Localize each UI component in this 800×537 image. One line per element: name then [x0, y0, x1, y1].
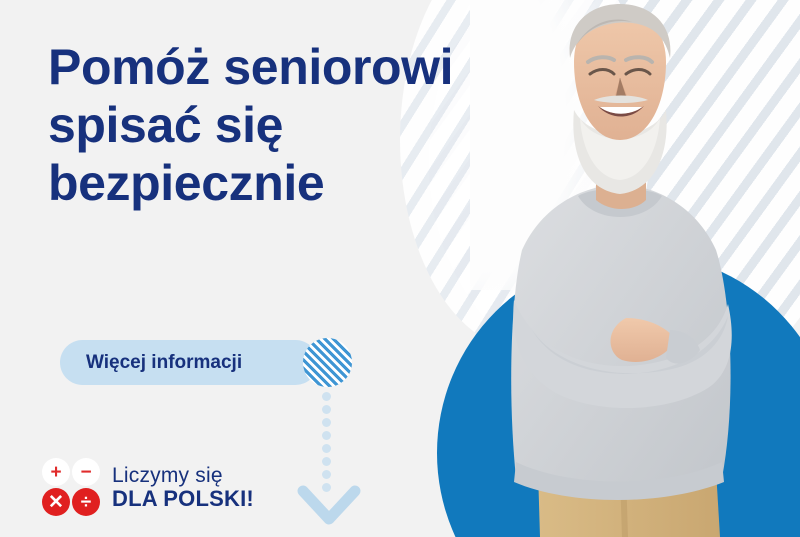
chevron-down-arrow-icon: [297, 483, 361, 529]
plus-icon: +: [42, 458, 70, 486]
dot: [322, 405, 331, 414]
multiply-icon: ✕: [42, 488, 70, 516]
minus-icon: −: [72, 458, 100, 486]
dot: [322, 470, 331, 479]
logo-line-2: DLA POLSKI!: [112, 487, 254, 510]
logo-math-marks: + − ✕ ÷: [42, 458, 102, 518]
headline: Pomóż seniorowi spisać się bezpiecznie: [48, 38, 548, 212]
striped-circle-icon[interactable]: [303, 338, 352, 387]
dot: [322, 457, 331, 466]
dot: [322, 431, 331, 440]
campaign-banner: Pomóż seniorowi spisać się bezpiecznie W…: [0, 0, 800, 537]
more-information-label: Więcej informacji: [60, 352, 242, 374]
logo: + − ✕ ÷ Liczymy się DLA POLSKI!: [42, 458, 254, 518]
divide-icon: ÷: [72, 488, 100, 516]
dot: [322, 418, 331, 427]
more-information-button[interactable]: Więcej informacji: [60, 340, 318, 385]
dotted-connector: [322, 392, 331, 496]
logo-text: Liczymy się DLA POLSKI!: [112, 465, 254, 510]
dot: [322, 392, 331, 401]
dot: [322, 444, 331, 453]
logo-line-1: Liczymy się: [112, 465, 254, 487]
